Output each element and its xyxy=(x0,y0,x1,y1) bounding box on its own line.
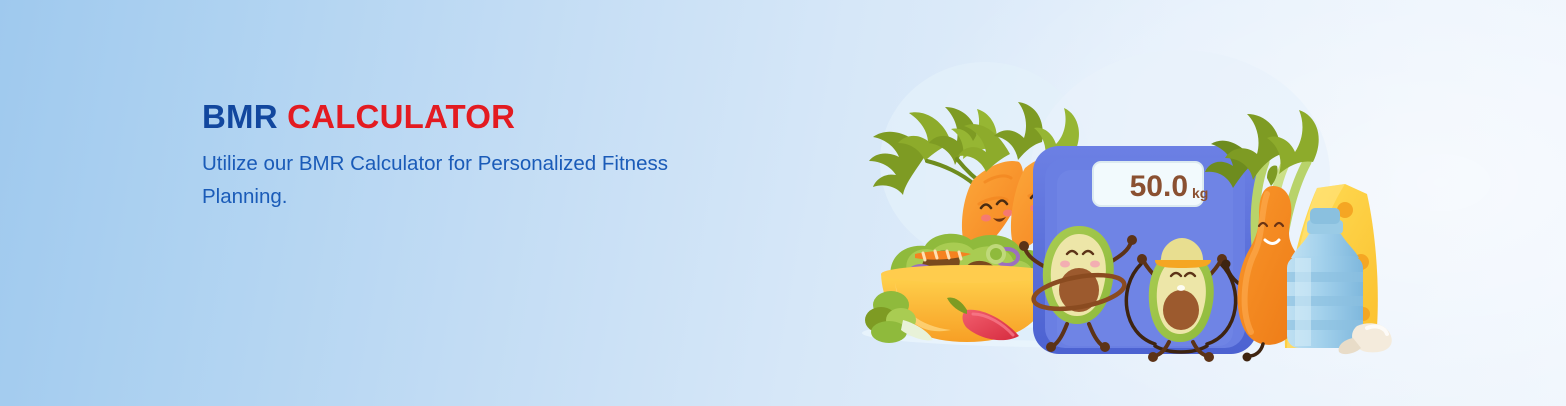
page-subtitle: Utilize our BMR Calculator for Personali… xyxy=(202,147,707,213)
banner-copy: BMR CALCULATOR Utilize our BMR Calculato… xyxy=(202,98,822,213)
page-title: BMR CALCULATOR xyxy=(202,98,822,136)
hero-illustration: 50.0 kg xyxy=(855,58,1385,348)
page-title-accent: CALCULATOR xyxy=(287,98,515,135)
scale-display-unit: kg xyxy=(1192,185,1208,201)
bmr-calculator-banner: BMR CALCULATOR Utilize our BMR Calculato… xyxy=(0,0,1566,406)
scale-display-value: 50.0 xyxy=(1130,170,1188,203)
page-title-primary: BMR xyxy=(202,98,287,135)
